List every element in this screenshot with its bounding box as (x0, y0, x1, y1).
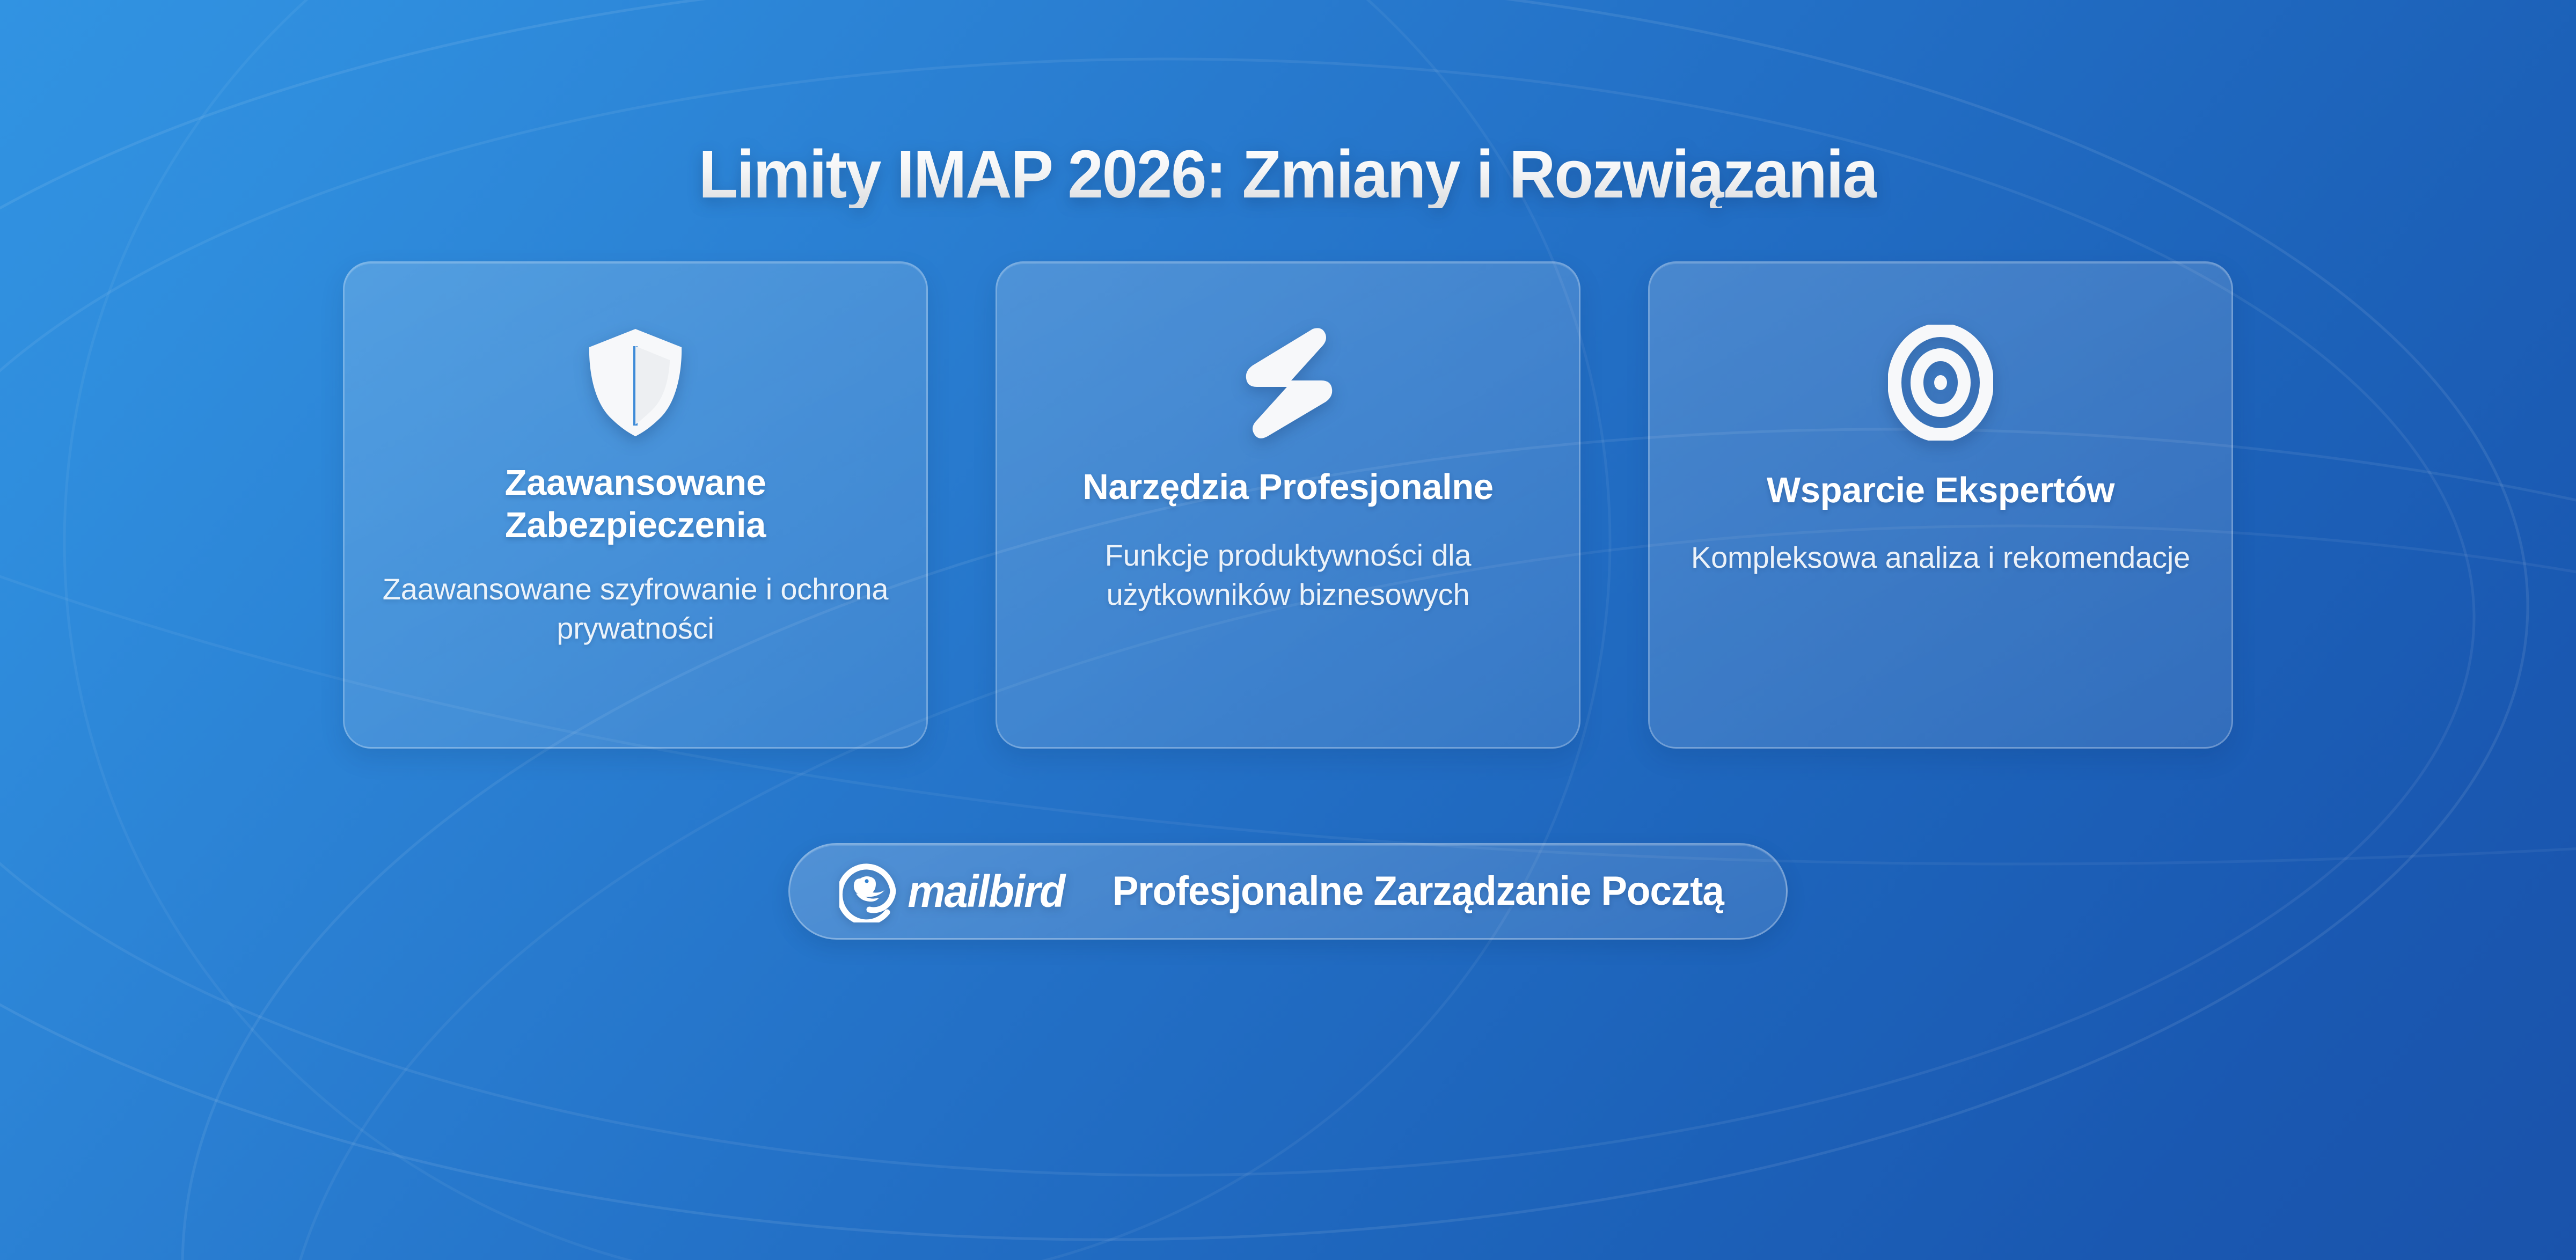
target-icon (1888, 326, 1993, 439)
card-description: Kompleksowa analiza i rekomendacje (1691, 538, 2190, 577)
shield-icon (582, 326, 689, 439)
mailbird-wordmark: mailbird (908, 869, 1065, 914)
card-description: Zaawansowane szyfrowanie i ochrona prywa… (382, 570, 889, 648)
card-title: Wsparcie Ekspertów (1767, 469, 2114, 511)
mailbird-bird-at-icon: mailbird (839, 860, 1070, 922)
card-description: Funkcje produktywności dla użytkowników … (1035, 536, 1541, 614)
page-title: Limity IMAP 2026: Zmiany i Rozwiązania (699, 141, 1877, 208)
feature-card-pro-tools[interactable]: Narzędzia Profesjonalne Funkcje produkty… (996, 261, 1580, 749)
footer-brand-badge[interactable]: mailbird Profesjonalne Zarządzanie Poczt… (788, 843, 1787, 940)
lightning-bolt-icon (1242, 326, 1334, 439)
card-title: Zaawansowane Zabezpieczenia (382, 461, 889, 546)
feature-card-expert-support[interactable]: Wsparcie Ekspertów Kompleksowa analiza i… (1648, 261, 2233, 749)
footer-tagline: Profesjonalne Zarządzanie Pocztą (1113, 871, 1724, 912)
feature-cards-row: Zaawansowane Zabezpieczenia Zaawansowane… (343, 261, 2233, 749)
feature-card-security[interactable]: Zaawansowane Zabezpieczenia Zaawansowane… (343, 261, 928, 749)
card-title: Narzędzia Profesjonalne (1082, 466, 1493, 508)
